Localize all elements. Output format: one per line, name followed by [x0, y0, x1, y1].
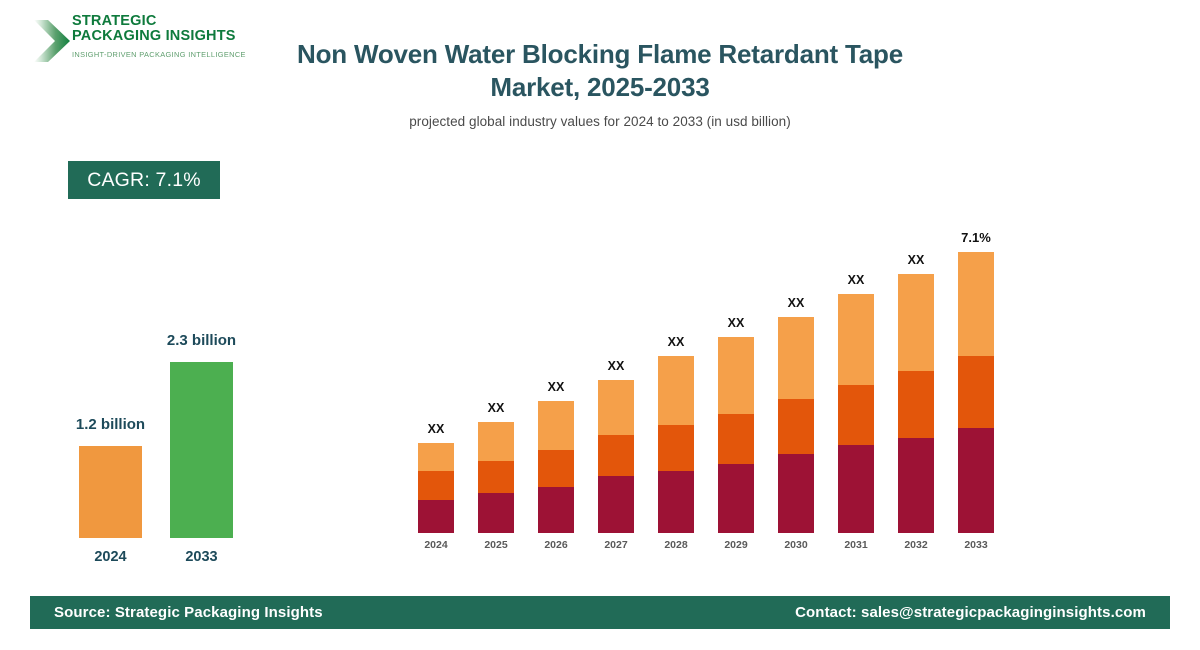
simple-bar-value-2033: 2.3 billion [167, 332, 236, 349]
stacked-segment-segment-top-2024 [418, 443, 454, 472]
stacked-segment-segment-bottom-2025 [478, 493, 514, 533]
stacked-bar-x-label-2033: 2033 [964, 539, 987, 551]
stacked-bar-top-label-2032: XX [908, 253, 925, 267]
stacked-segment-segment-middle-2026 [538, 450, 574, 487]
stacked-bar-top-label-2025: XX [488, 401, 505, 415]
stacked-segment-segment-middle-2030 [778, 399, 814, 454]
stacked-bar-2032: XX2032 [898, 274, 934, 533]
stacked-bar-2024: XX2024 [418, 443, 454, 533]
stacked-bar-x-label-2031: 2031 [844, 539, 867, 551]
stacked-segment-segment-top-2031 [838, 294, 874, 384]
stacked-bar-2031: XX2031 [838, 294, 874, 533]
simple-bar-2024: 1.2 billion2024 [79, 446, 142, 538]
stacked-bar-2029: XX2029 [718, 337, 754, 533]
stacked-bar-x-label-2026: 2026 [544, 539, 567, 551]
market-size-comparison-chart: 1.2 billion20242.3 billion2033 [0, 0, 320, 580]
stacked-bar-x-label-2032: 2032 [904, 539, 927, 551]
simple-bar-rect-2024 [79, 446, 142, 538]
stacked-segment-segment-bottom-2027 [598, 476, 634, 533]
stacked-bar-top-label-2029: XX [728, 316, 745, 330]
title-block: Non Woven Water Blocking Flame Retardant… [270, 38, 930, 129]
footer-contact[interactable]: Contact: sales@strategicpackaginginsight… [795, 604, 1146, 621]
simple-bar-rect-2033 [170, 362, 233, 538]
stacked-segment-segment-top-2028 [658, 356, 694, 425]
simple-bar-label-2024: 2024 [94, 549, 126, 565]
stacked-segment-segment-bottom-2031 [838, 445, 874, 533]
stacked-segment-segment-top-2026 [538, 401, 574, 450]
stacked-bar-x-label-2027: 2027 [604, 539, 627, 551]
stacked-bar-x-label-2030: 2030 [784, 539, 807, 551]
stacked-bar-x-label-2025: 2025 [484, 539, 507, 551]
stacked-segment-segment-bottom-2029 [718, 464, 754, 533]
stacked-bar-x-label-2028: 2028 [664, 539, 687, 551]
stacked-bar-2026: XX2026 [538, 401, 574, 533]
stacked-bar-top-label-2033: 7.1% [961, 230, 991, 245]
stacked-bar-top-label-2031: XX [848, 273, 865, 287]
simple-bar-2033: 2.3 billion2033 [170, 362, 233, 538]
footer-bar: Source: Strategic Packaging Insights Con… [30, 596, 1170, 629]
stacked-segment-segment-bottom-2030 [778, 454, 814, 533]
stacked-bar-top-label-2028: XX [668, 335, 685, 349]
stacked-bar-2027: XX2027 [598, 380, 634, 533]
stacked-segment-segment-middle-2029 [718, 414, 754, 464]
stacked-segment-segment-bottom-2028 [658, 471, 694, 533]
stacked-bar-top-label-2024: XX [428, 422, 445, 436]
stacked-segment-segment-top-2025 [478, 422, 514, 461]
stacked-segment-segment-middle-2024 [418, 471, 454, 500]
stacked-segment-segment-top-2033 [958, 252, 994, 356]
page-title: Non Woven Water Blocking Flame Retardant… [270, 38, 930, 104]
stacked-segment-segment-top-2027 [598, 380, 634, 435]
stacked-bar-x-label-2024: 2024 [424, 539, 447, 551]
stacked-segment-segment-middle-2027 [598, 435, 634, 476]
stacked-bar-2030: XX2030 [778, 317, 814, 533]
stacked-segment-segment-top-2032 [898, 274, 934, 371]
stacked-bar-2033: 7.1%2033 [958, 252, 994, 533]
footer-source: Source: Strategic Packaging Insights [54, 604, 323, 621]
stacked-bar-top-label-2030: XX [788, 296, 805, 310]
stacked-segment-segment-top-2030 [778, 317, 814, 399]
stacked-segment-segment-bottom-2026 [538, 487, 574, 533]
page-subtitle: projected global industry values for 202… [270, 114, 930, 129]
stacked-bar-x-label-2029: 2029 [724, 539, 747, 551]
stacked-segment-segment-middle-2032 [898, 371, 934, 438]
stacked-segment-segment-bottom-2032 [898, 438, 934, 533]
stacked-bar-2025: XX2025 [478, 422, 514, 533]
segment-stacked-forecast-chart: XX2024XX2025XX2026XX2027XX2028XX2029XX20… [395, 195, 1015, 560]
stacked-segment-segment-middle-2033 [958, 356, 994, 428]
stacked-segment-segment-top-2029 [718, 337, 754, 414]
stacked-bar-top-label-2026: XX [548, 380, 565, 394]
stacked-bar-2028: XX2028 [658, 356, 694, 533]
stacked-segment-segment-middle-2025 [478, 461, 514, 493]
simple-bar-label-2033: 2033 [185, 549, 217, 565]
stacked-bar-top-label-2027: XX [608, 359, 625, 373]
stacked-segment-segment-bottom-2033 [958, 428, 994, 533]
stacked-segment-segment-middle-2028 [658, 425, 694, 472]
stacked-segment-segment-middle-2031 [838, 385, 874, 446]
simple-bar-value-2024: 1.2 billion [76, 416, 145, 433]
stacked-segment-segment-bottom-2024 [418, 500, 454, 533]
